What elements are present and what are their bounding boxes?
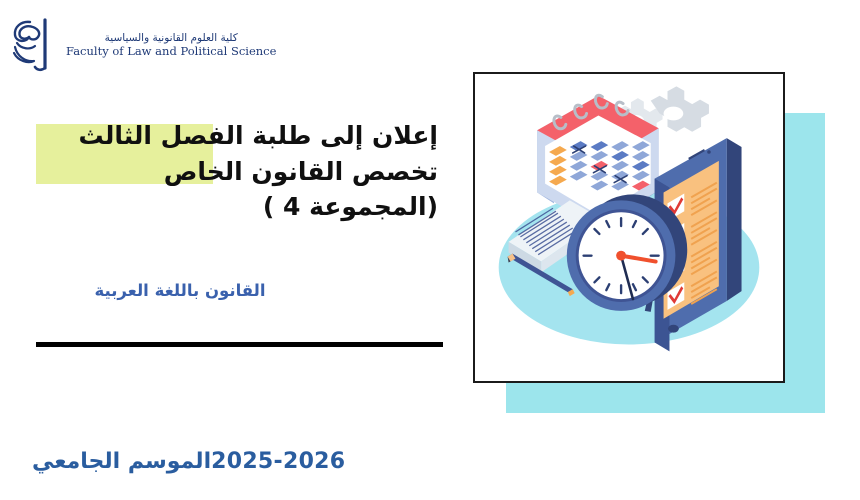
calligraphy-logo-icon bbox=[8, 16, 60, 74]
horizontal-rule bbox=[36, 342, 443, 347]
poster-slide: كلية العلوم القانونية والسياسية Faculty … bbox=[0, 0, 860, 500]
academic-season: 2025-2026الموسم الجامعي bbox=[32, 449, 355, 474]
subtitle: القانون باللغة العربية bbox=[20, 281, 340, 300]
logo-text-block: كلية العلوم القانونية والسياسية Faculty … bbox=[66, 32, 276, 58]
headline-block: إعلان إلى طلبة الفصل الثالث تخصص القانون… bbox=[20, 118, 440, 225]
academic-season-label: الموسم الجامعي bbox=[32, 449, 211, 474]
page-title: إعلان إلى طلبة الفصل الثالث تخصص القانون… bbox=[20, 118, 440, 225]
logo-english-name: Faculty of Law and Political Science bbox=[66, 45, 276, 58]
faculty-logo: كلية العلوم القانونية والسياسية Faculty … bbox=[8, 14, 328, 76]
logo-arabic-name: كلية العلوم القانونية والسياسية bbox=[105, 32, 238, 44]
illustration-frame bbox=[473, 72, 785, 383]
isometric-schedule-illustration bbox=[475, 74, 783, 381]
academic-years: 2025-2026 bbox=[211, 449, 345, 474]
